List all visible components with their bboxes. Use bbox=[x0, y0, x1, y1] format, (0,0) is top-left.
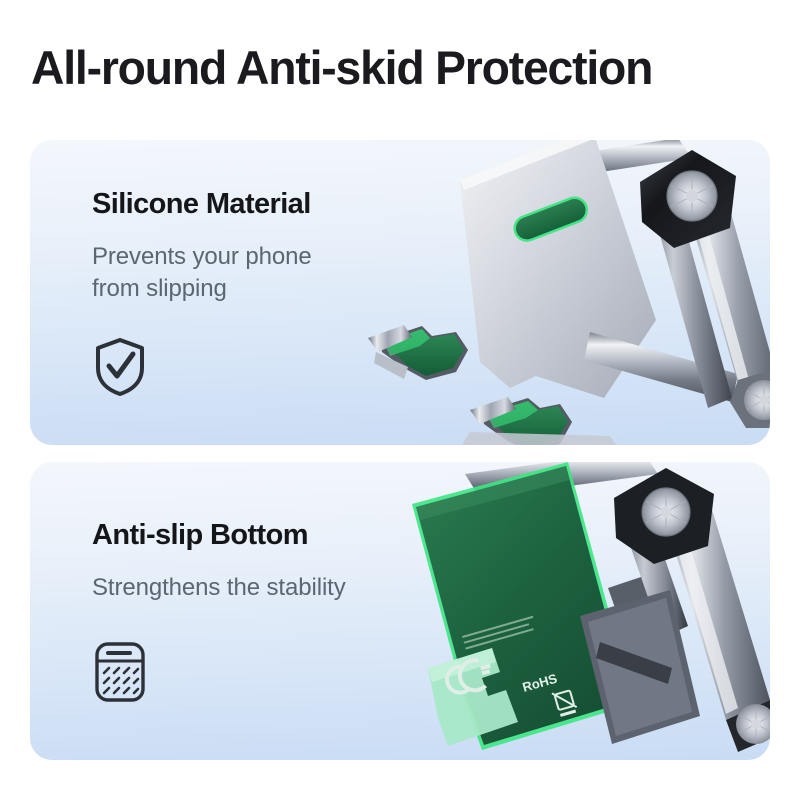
textured-grip-pad-icon bbox=[92, 640, 148, 709]
card-text-block: Anti-slip Bottom Strengthens the stabili… bbox=[92, 518, 346, 604]
card-body: Strengthens the stability bbox=[92, 572, 346, 604]
card-heading: Anti-slip Bottom bbox=[92, 518, 346, 553]
phone-stand-bottom-photo: RoHS bbox=[370, 462, 770, 760]
phone-stand-front-photo bbox=[360, 140, 770, 445]
feature-card-silicone-material: Silicone Material Prevents your phone fr… bbox=[30, 140, 770, 445]
card-body: Prevents your phone from slipping bbox=[92, 241, 312, 305]
card-heading: Silicone Material bbox=[92, 187, 312, 222]
page-title: All-round Anti-skid Protection bbox=[31, 43, 652, 92]
feature-card-anti-slip-bottom: RoHS bbox=[30, 462, 770, 760]
support-hook-upper bbox=[368, 325, 468, 380]
card-text-block: Silicone Material Prevents your phone fr… bbox=[92, 187, 312, 305]
infographic-page: All-round Anti-skid Protection bbox=[0, 0, 800, 800]
shield-check-icon bbox=[92, 336, 148, 403]
